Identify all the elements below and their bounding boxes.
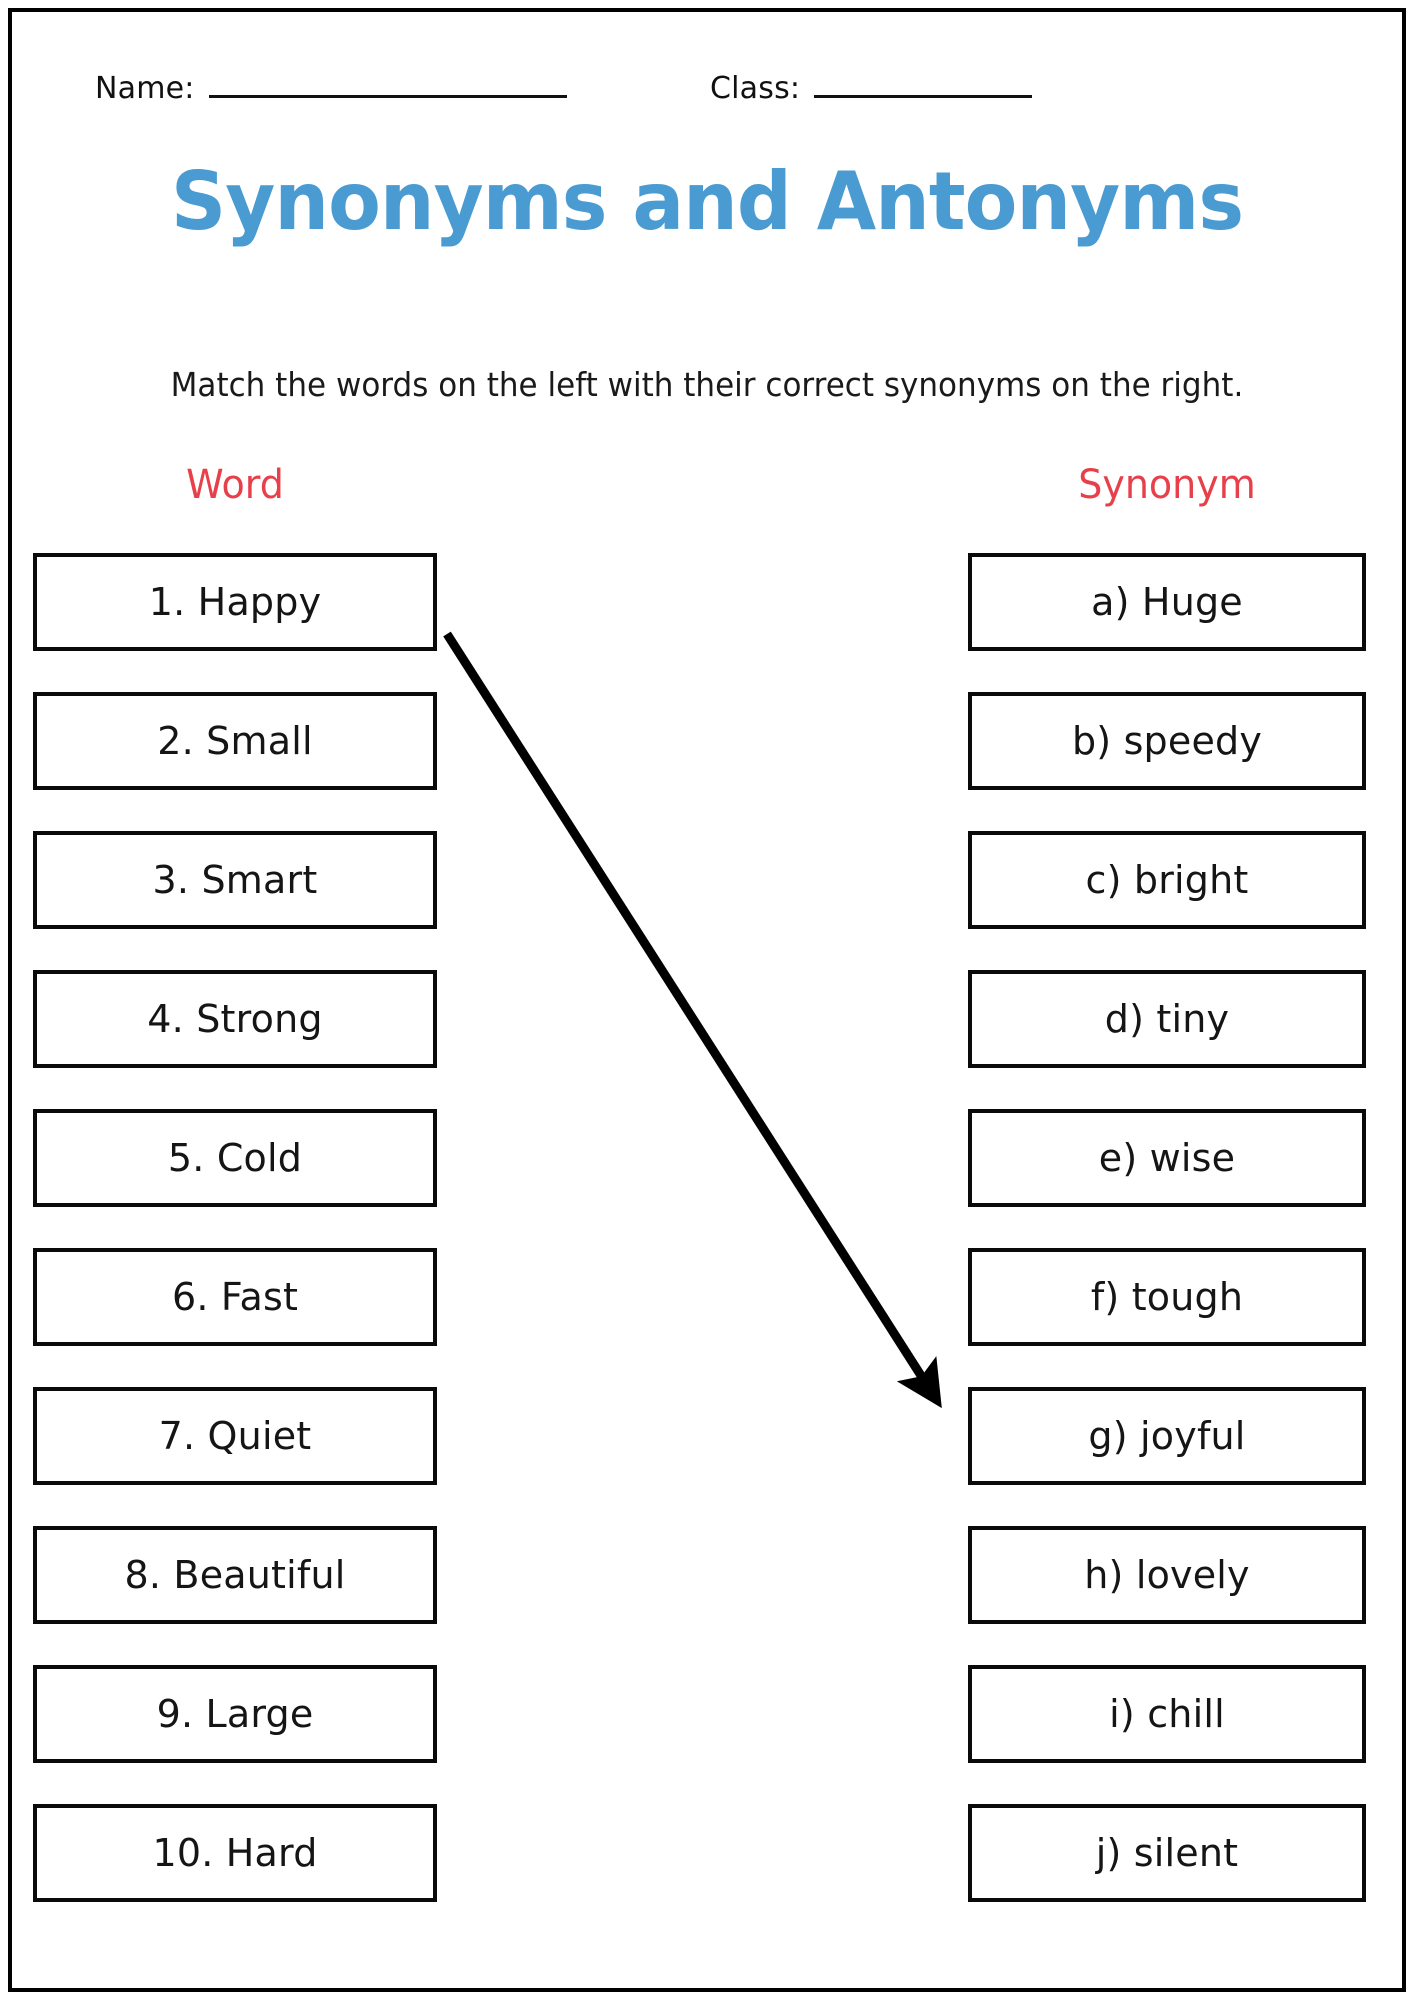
synonym-box[interactable]: a) Huge <box>968 553 1366 651</box>
class-write-line[interactable] <box>814 70 1032 98</box>
synonym-box[interactable]: h) lovely <box>968 1526 1366 1624</box>
name-write-line[interactable] <box>209 70 567 98</box>
word-box[interactable]: 8. Beautiful <box>33 1526 437 1624</box>
name-label: Name: <box>95 71 195 106</box>
synonyms-column: a) Huge b) speedy c) bright d) tiny e) w… <box>968 553 1366 1902</box>
word-box[interactable]: 6. Fast <box>33 1248 437 1346</box>
synonym-box[interactable]: c) bright <box>968 831 1366 929</box>
synonym-box[interactable]: b) speedy <box>968 692 1366 790</box>
class-field[interactable]: Class: <box>710 70 1032 106</box>
instructions-text: Match the words on the left with their c… <box>42 368 1371 401</box>
word-box[interactable]: 4. Strong <box>33 970 437 1068</box>
synonym-box[interactable]: i) chill <box>968 1665 1366 1763</box>
synonym-box[interactable]: f) tough <box>968 1248 1366 1346</box>
word-box[interactable]: 9. Large <box>33 1665 437 1763</box>
class-label: Class: <box>710 71 800 106</box>
words-column: 1. Happy 2. Small 3. Smart 4. Strong 5. … <box>33 553 437 1902</box>
column-header-word: Word <box>43 465 427 505</box>
word-box[interactable]: 5. Cold <box>33 1109 437 1207</box>
match-arrow-happy-joyful <box>447 634 936 1399</box>
synonym-box[interactable]: e) wise <box>968 1109 1366 1207</box>
student-info-row: Name: Class: <box>0 70 1414 120</box>
worksheet-page: Name: Class: Synonyms and Antonyms Match… <box>0 0 1414 2000</box>
word-box[interactable]: 2. Small <box>33 692 437 790</box>
synonym-box[interactable]: j) silent <box>968 1804 1366 1902</box>
column-header-synonym: Synonym <box>978 465 1356 505</box>
page-title: Synonyms and Antonyms <box>28 162 1385 242</box>
name-field[interactable]: Name: <box>95 70 567 106</box>
word-box[interactable]: 7. Quiet <box>33 1387 437 1485</box>
synonym-box[interactable]: g) joyful <box>968 1387 1366 1485</box>
synonym-box[interactable]: d) tiny <box>968 970 1366 1068</box>
word-box[interactable]: 3. Smart <box>33 831 437 929</box>
word-box[interactable]: 1. Happy <box>33 553 437 651</box>
word-box[interactable]: 10. Hard <box>33 1804 437 1902</box>
